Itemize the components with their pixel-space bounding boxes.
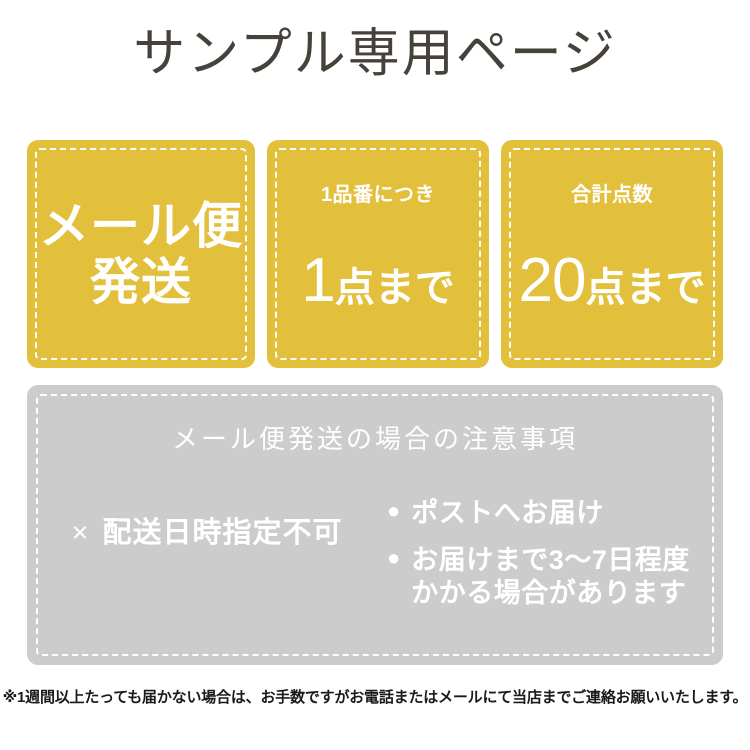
notice-bullet-text: ポストへお届け xyxy=(411,497,604,530)
notice-bullet-list: ● ポストへお届け ● お届けまで3〜7日程度 かかる場合があります xyxy=(387,497,723,610)
shipping-card-row: メール便 発送 1品番につき 1 点まで 合計点数 20 点まで xyxy=(27,140,723,368)
card-per-item-limit-content: 1品番につき 1 点まで xyxy=(267,140,489,368)
notice-heading: メール便発送の場合の注意事項 xyxy=(27,419,723,456)
card-per-item-heading: 1品番につき xyxy=(321,178,435,207)
card-total-value: 20 点まで xyxy=(519,250,706,312)
notice-bullet-text: お届けまで3〜7日程度 かかる場合があります xyxy=(411,544,690,610)
card-mail-shipping-content: メール便 発送 xyxy=(27,140,255,368)
cross-icon: × xyxy=(72,519,89,548)
card-mail-shipping: メール便 発送 xyxy=(27,140,255,368)
notice-bullet-item: ● お届けまで3〜7日程度 かかる場合があります xyxy=(387,544,713,610)
notice-bullet-item: ● ポストへお届け xyxy=(387,497,713,530)
card-total-number: 20 xyxy=(519,250,586,312)
notice-bullet-line2: かかる場合があります xyxy=(411,577,690,610)
notice-body: × 配送日時指定不可 ● ポストへお届け ● お届けまで3〜7日程度 かかる場合… xyxy=(27,497,723,610)
card-total-limit: 合計点数 20 点まで xyxy=(501,140,723,368)
card-per-item-unit: 点まで xyxy=(335,268,455,308)
notice-no-date-item: × 配送日時指定不可 xyxy=(27,497,387,548)
page-title: サンプル専用ページ xyxy=(0,26,750,83)
card-per-item-value: 1 点まで xyxy=(301,250,454,312)
notice-no-date-label: 配送日時指定不可 xyxy=(102,519,342,548)
card-total-heading: 合計点数 xyxy=(571,178,653,207)
card-per-item-number: 1 xyxy=(301,250,334,312)
bullet-dot-icon: ● xyxy=(387,497,400,525)
card-mail-shipping-line1: メール便 xyxy=(39,199,243,253)
bullet-dot-icon: ● xyxy=(387,544,400,572)
card-per-item-limit: 1品番につき 1 点まで xyxy=(267,140,489,368)
notice-bullet-line1: ポストへお届け xyxy=(411,498,604,528)
card-total-limit-content: 合計点数 20 点まで xyxy=(501,140,723,368)
notice-bullet-line1: お届けまで3〜7日程度 xyxy=(411,545,690,575)
card-total-unit: 点まで xyxy=(585,268,705,308)
notice-panel: メール便発送の場合の注意事項 × 配送日時指定不可 ● ポストへお届け ● お届… xyxy=(27,385,723,665)
card-mail-shipping-line2: 発送 xyxy=(90,255,192,309)
footnote: ※1週間以上たっても届かない場合は、お手数ですがお電話またはメールにて当店までご… xyxy=(0,686,750,707)
